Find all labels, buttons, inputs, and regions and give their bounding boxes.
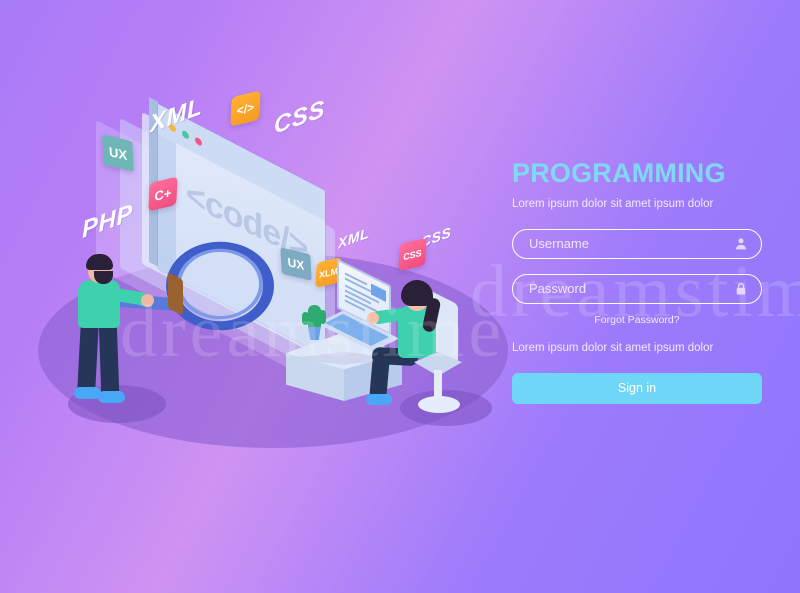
- page-title: PROGRAMMING: [512, 160, 762, 187]
- woman-shoe: [366, 394, 392, 405]
- user-icon: [734, 236, 748, 251]
- magnifier-grip: [168, 272, 183, 315]
- password-input[interactable]: [529, 281, 727, 296]
- page-root: <code/> UX XML CSS PHP XML CSS </> C+ UX…: [0, 0, 800, 593]
- forgot-password-link[interactable]: Forgot Password?: [512, 314, 762, 326]
- username-input[interactable]: [529, 236, 727, 251]
- label-xml-2: XML: [338, 225, 370, 252]
- woman-hand: [367, 312, 379, 324]
- password-field[interactable]: [512, 274, 762, 304]
- form-footnote: Lorem ipsum dolor sit amet ipsum dolor: [512, 342, 762, 354]
- man-shoe-right: [98, 391, 125, 403]
- man-hair: [86, 254, 113, 270]
- lock-icon: [734, 281, 748, 296]
- username-field[interactable]: [512, 229, 762, 259]
- badge-code-slash: </>: [230, 90, 260, 126]
- chair-base: [418, 396, 460, 413]
- man-leg-right: [99, 322, 120, 395]
- man-leg-left: [77, 322, 99, 393]
- label-css: CSS: [274, 95, 326, 141]
- login-form-panel: PROGRAMMING Lorem ipsum dolor sit amet i…: [512, 160, 762, 404]
- badge-css: CSS: [398, 238, 426, 272]
- sign-in-button[interactable]: Sign in: [512, 373, 762, 404]
- isometric-illustration: <code/> UX XML CSS PHP XML CSS </> C+ UX…: [0, 0, 520, 593]
- magnifier-inner-ring-icon: [177, 249, 263, 320]
- man-shoe-left: [74, 387, 101, 399]
- man-hand: [141, 294, 154, 307]
- cactus-plant: [308, 305, 321, 329]
- form-subtitle: Lorem ipsum dolor sit amet ipsum dolor: [512, 198, 762, 212]
- woman-hair: [401, 280, 433, 306]
